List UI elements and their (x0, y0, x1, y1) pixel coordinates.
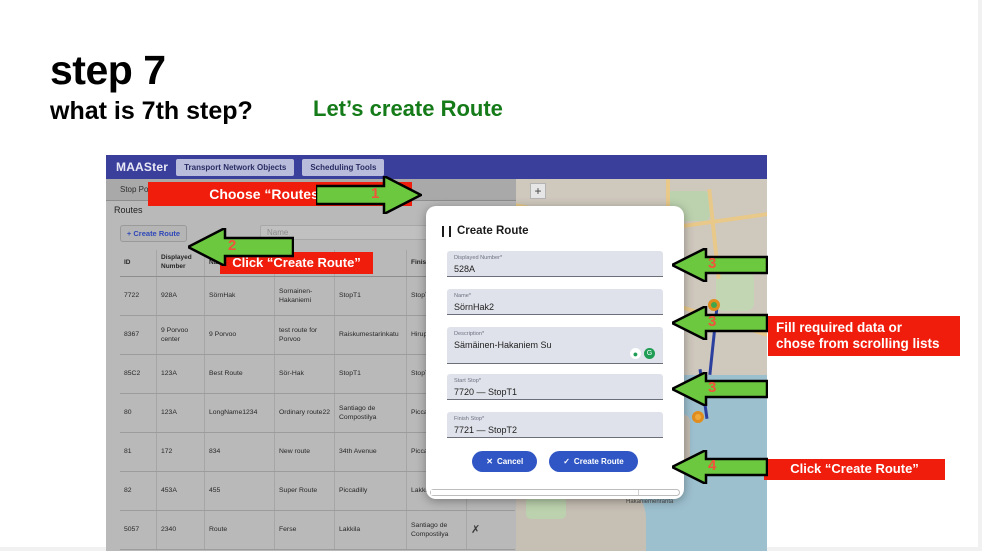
cell-id: 7722 (120, 277, 157, 315)
cell-name: LongName1234 (205, 394, 275, 432)
header-button-transport-network-objects[interactable]: Transport Network Objects (176, 159, 294, 176)
cell-description: Sornainen-Hakaniemi (275, 277, 335, 315)
arrow-4-number: 4 (708, 457, 716, 474)
map-pin-icon[interactable]: ● (630, 348, 641, 359)
col-id: ID (120, 250, 157, 276)
cell-id: 82 (120, 472, 157, 510)
callout-click-create-route-submit: Click “Create Route” (764, 459, 945, 480)
page-subtitle: what is 7th step? (50, 99, 253, 124)
app-screenshot: MAASter Transport Network Objects Schedu… (106, 155, 767, 551)
slide-canvas: step 7 what is 7th step? Let’s create Ro… (0, 0, 982, 551)
arrow-2-number: 2 (228, 237, 236, 254)
arrow-1-number: 1 (371, 185, 379, 202)
cell-start: Raiskumestarinkatu (335, 316, 407, 354)
cell-displayed-number: 453A (157, 472, 205, 510)
arrow-3b-number: 3 (708, 313, 716, 330)
cell-start: Santiago de Compostilya (335, 394, 407, 432)
cell-name: 9 Porvoo (205, 316, 275, 354)
translate-icon[interactable]: G (644, 348, 655, 359)
app-brand: MAASter (116, 160, 168, 174)
cell-finish: Santiago de Compostilya (407, 511, 467, 549)
submit-button-label: Create Route (574, 457, 624, 466)
arrow-3a-number: 3 (708, 255, 716, 272)
start-stop-label: Start Stop* (454, 378, 656, 384)
header-button-scheduling-tools[interactable]: Scheduling Tools (302, 159, 384, 176)
arrow-3c: 3 (672, 372, 768, 406)
start-stop-field[interactable]: Start Stop* 7720 — StopT1 (447, 374, 663, 400)
cell-description: Super Route (275, 472, 335, 510)
cell-displayed-number: 123A (157, 394, 205, 432)
cancel-button-label: Cancel (497, 457, 523, 466)
arrow-2: 2 (188, 228, 294, 266)
cell-start: StopT1 (335, 277, 407, 315)
cell-start: StopT1 (335, 355, 407, 393)
description-label: Description* (454, 331, 656, 337)
cell-start: Piccadilly (335, 472, 407, 510)
finish-stop-value: 7721 — StopT2 (454, 425, 656, 435)
cell-displayed-number: 123A (157, 355, 205, 393)
description-field[interactable]: Description* Sämäinen-Hakaniem Su ● G (447, 327, 663, 364)
dialog-title-text: Create Route (457, 225, 529, 237)
cell-id: 81 (120, 433, 157, 471)
page-title: step 7 (50, 50, 166, 91)
cell-description: Ferse (275, 511, 335, 549)
dialog-title: Create Route (442, 225, 529, 237)
map-stop-marker-finish[interactable] (692, 411, 704, 423)
green-note: Let’s create Route (313, 98, 503, 120)
row-action-icon[interactable]: ✗ (467, 511, 515, 549)
cell-displayed-number: 172 (157, 433, 205, 471)
name-value: SörnHak2 (454, 302, 656, 312)
map-label: Hakaniemenranta (626, 499, 673, 505)
cell-start: Lakkila (335, 511, 407, 549)
cell-id: 5057 (120, 511, 157, 549)
arrow-4: 4 (672, 450, 768, 484)
create-route-button[interactable]: + Create Route (120, 225, 187, 242)
name-field[interactable]: Name* SörnHak2 (447, 289, 663, 315)
cell-description: Sör-Hak (275, 355, 335, 393)
cell-displayed-number: 2340 (157, 511, 205, 549)
dialog-horizontal-scrollbar[interactable] (430, 489, 680, 496)
cell-description: Ordinary route22 (275, 394, 335, 432)
dialog-actions: ✕ Cancel ✓ Create Route (426, 451, 684, 472)
close-icon: ✕ (486, 457, 493, 466)
cell-name: SörnHak (205, 277, 275, 315)
app-header: MAASter Transport Network Objects Schedu… (106, 155, 767, 179)
cell-name: Best Route (205, 355, 275, 393)
cell-name: 834 (205, 433, 275, 471)
displayed-number-value: 528A (454, 264, 656, 274)
arrow-3c-number: 3 (708, 379, 716, 396)
map-zoom-in-button[interactable]: + (530, 183, 546, 199)
submit-create-route-button[interactable]: ✓ Create Route (549, 451, 638, 472)
displayed-number-label: Displayed Number* (454, 255, 656, 261)
cancel-button[interactable]: ✕ Cancel (472, 451, 537, 472)
table-row[interactable]: 5057 2340 Route Ferse Lakkila Santiago d… (120, 511, 515, 550)
section-label-routes: Routes (114, 205, 143, 215)
cell-name: Route (205, 511, 275, 549)
displayed-number-field[interactable]: Displayed Number* 528A (447, 251, 663, 277)
page-edge-right (978, 0, 982, 551)
map-park-area (526, 497, 566, 519)
finish-stop-field[interactable]: Finish Stop* 7721 — StopT2 (447, 412, 663, 438)
finish-stop-label: Finish Stop* (454, 416, 656, 422)
description-value: Sämäinen-Hakaniem Su (454, 340, 656, 350)
arrow-1: 1 (316, 176, 422, 214)
callout-fill-line2: chose from scrolling lists (776, 336, 940, 352)
cell-description: New route (275, 433, 335, 471)
arrow-3a: 3 (672, 248, 768, 282)
cell-name: 455 (205, 472, 275, 510)
cell-description: test route for Porvoo (275, 316, 335, 354)
check-icon: ✓ (563, 457, 570, 466)
cell-displayed-number: 928A (157, 277, 205, 315)
callout-fill-line1: Fill required data or (776, 320, 902, 336)
cell-id: 80 (120, 394, 157, 432)
start-stop-value: 7720 — StopT1 (454, 387, 656, 397)
arrow-3b: 3 (672, 306, 768, 340)
route-icon (442, 226, 451, 237)
cell-id: 85C2 (120, 355, 157, 393)
callout-fill-required-data: Fill required data or chose from scrolli… (768, 316, 960, 356)
cell-id: 8367 (120, 316, 157, 354)
description-icons: ● G (630, 348, 655, 359)
name-label: Name* (454, 293, 656, 299)
create-route-dialog: Create Route Displayed Number* 528A Name… (426, 206, 684, 499)
cell-start: 34th Avenue (335, 433, 407, 471)
cell-displayed-number: 9 Porvoo center (157, 316, 205, 354)
